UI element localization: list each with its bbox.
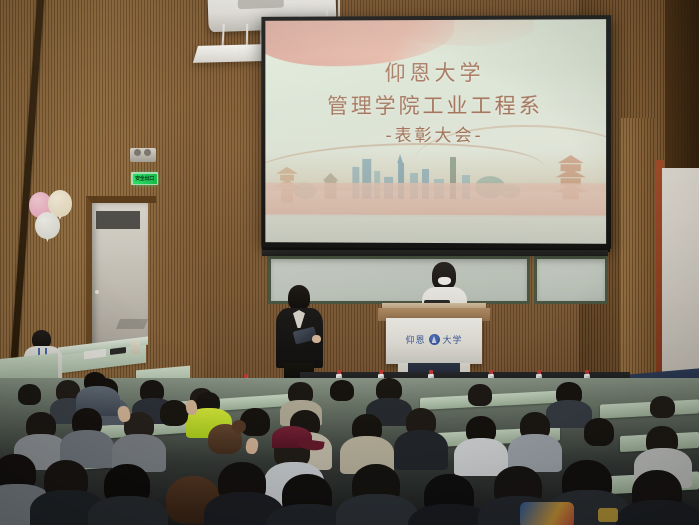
whiteboard-right bbox=[534, 256, 608, 304]
projector-lens-icon bbox=[238, 0, 284, 9]
audience-head bbox=[18, 384, 41, 405]
podium-nameplate: 仰恩 大学 bbox=[386, 333, 482, 346]
doorway-interior-shadow bbox=[96, 211, 140, 229]
audience-head bbox=[468, 384, 492, 406]
right-doorway[interactable] bbox=[662, 168, 699, 383]
screen-foreground-band bbox=[265, 214, 606, 243]
university-crest-logo-icon bbox=[429, 334, 440, 345]
audience-body bbox=[394, 430, 448, 470]
speaker-hair bbox=[432, 262, 456, 290]
screen-line-3: -表彰大会- bbox=[265, 122, 606, 151]
screen-ground-band bbox=[265, 183, 606, 218]
colorful-backpack bbox=[520, 502, 574, 525]
yellow-item bbox=[598, 508, 618, 522]
audience-section bbox=[0, 378, 699, 525]
podium: 仰恩 大学 bbox=[386, 318, 482, 364]
audience-body bbox=[88, 496, 168, 525]
presenter-standing bbox=[274, 285, 326, 385]
drink-cup-icon bbox=[131, 340, 140, 354]
projection-screen-frame: 仰恩大学 管理学院工业工程系 -表彰大会- bbox=[261, 15, 611, 249]
hair-bun bbox=[232, 420, 246, 433]
audience-head bbox=[650, 396, 675, 418]
exit-sign-label: 安全出口 bbox=[135, 175, 154, 182]
podium-text-left: 仰恩 bbox=[405, 333, 425, 346]
exit-sign-glow: 安全出口 bbox=[133, 174, 157, 184]
projection-screen: 仰恩大学 管理学院工业工程系 -表彰大会- bbox=[265, 19, 606, 244]
screen-line-2: 管理学院工业工程系 bbox=[265, 89, 606, 122]
audience-head bbox=[584, 418, 614, 446]
screen-line-1: 仰恩大学 bbox=[265, 57, 606, 89]
podium-text-right: 大学 bbox=[443, 333, 463, 346]
presenter-hand bbox=[312, 335, 321, 343]
right-pillar bbox=[620, 118, 656, 398]
exit-sign: 安全出口 bbox=[131, 172, 158, 185]
emergency-light-icon bbox=[130, 148, 156, 162]
face-mask-icon bbox=[438, 277, 451, 285]
balloon-white bbox=[35, 212, 60, 239]
door-handle[interactable] bbox=[95, 290, 99, 294]
doorway-floor-strip bbox=[116, 319, 148, 329]
left-doorway[interactable] bbox=[92, 203, 148, 345]
audience-head bbox=[160, 400, 188, 426]
auditorium-ceremony-photo: 安全出口 bbox=[0, 0, 699, 525]
screen-title-block: 仰恩大学 管理学院工业工程系 -表彰大会- bbox=[265, 57, 606, 151]
audience-body bbox=[454, 438, 508, 476]
audience-head bbox=[330, 380, 354, 401]
audience-body bbox=[336, 494, 418, 525]
